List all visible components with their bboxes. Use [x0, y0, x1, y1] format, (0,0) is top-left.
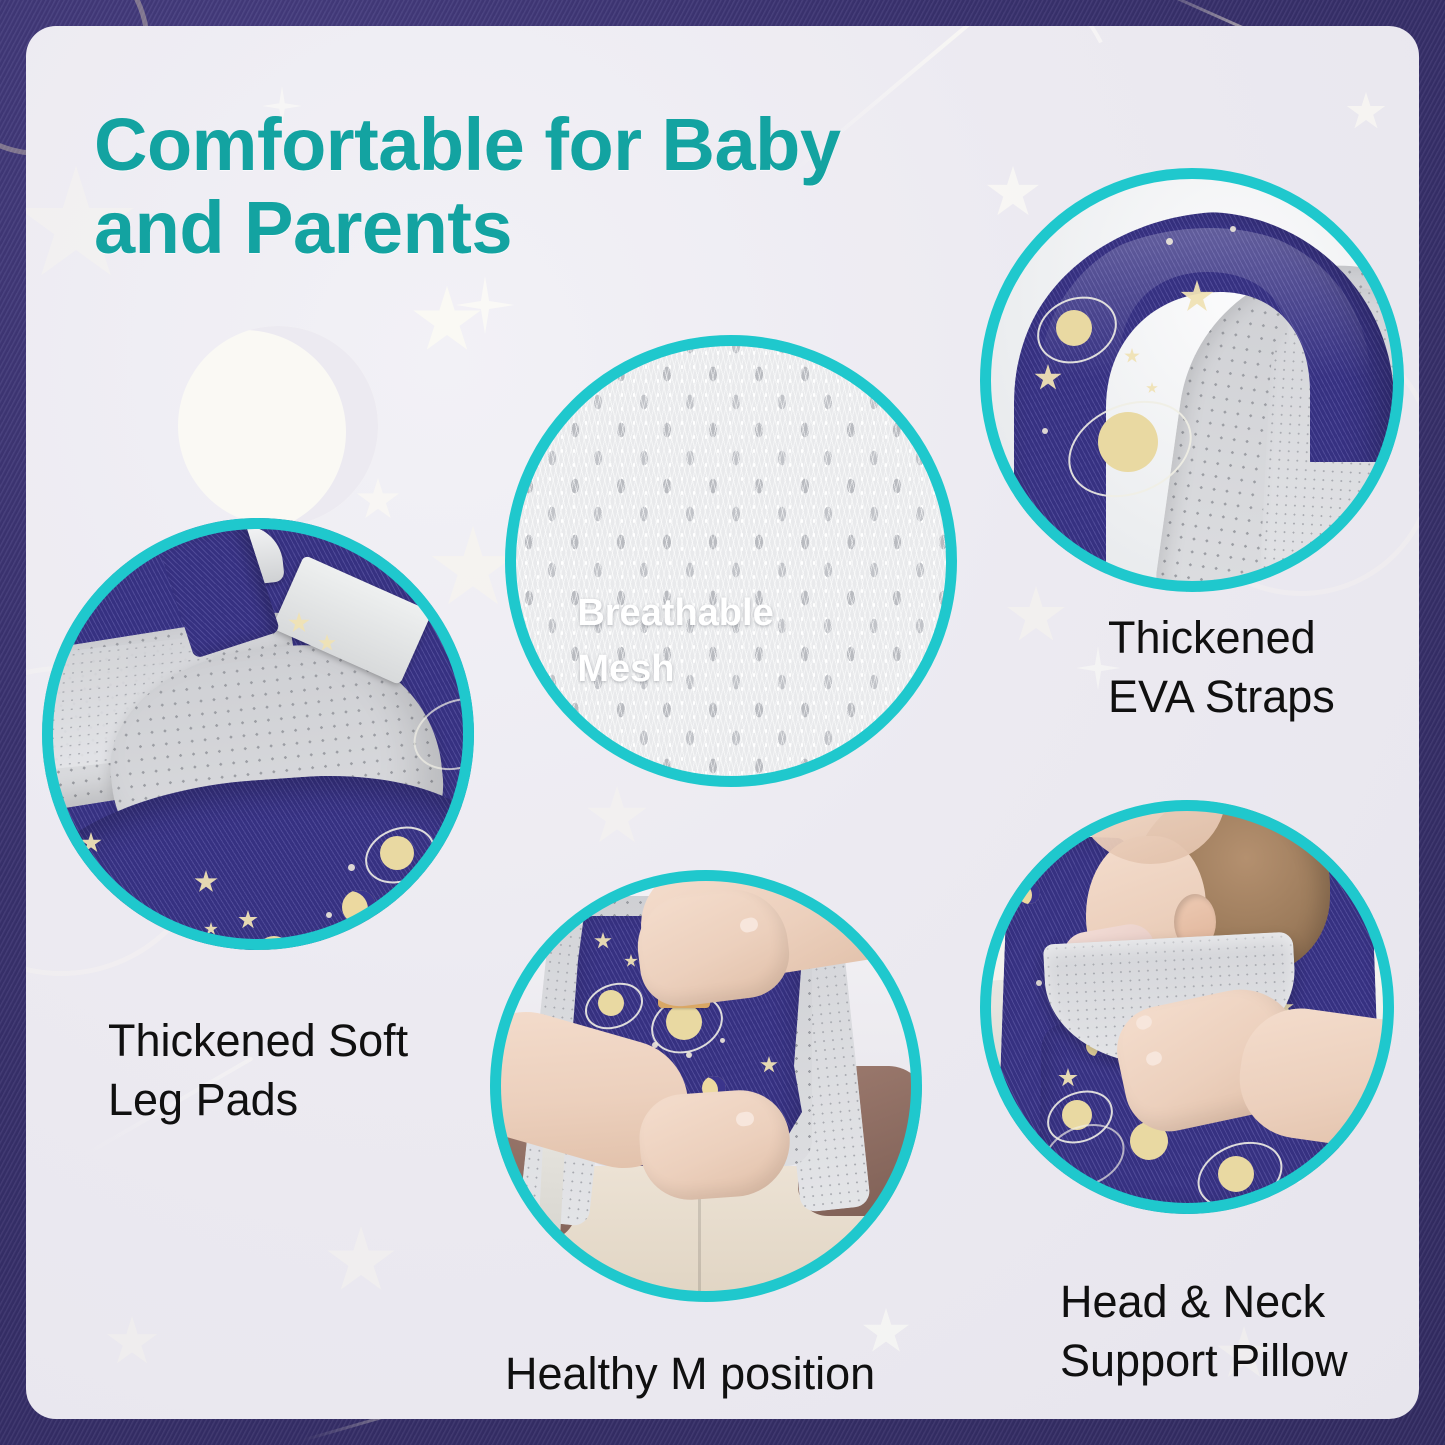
feature-image-healthy-m-position [490, 870, 922, 1302]
carrier-print-moon-icon [1018, 882, 1040, 904]
page-title: Comfortable for Baby and Parents [94, 104, 1094, 270]
background-star-icon [586, 786, 648, 848]
mesh-fabric-texture [505, 335, 957, 787]
carrier-print-dot-icon [720, 1038, 725, 1043]
background-star-icon [356, 478, 400, 522]
feature-image-thickened-eva-straps [980, 168, 1404, 592]
feature-caption-healthy-m-position: Healthy M position [505, 1344, 875, 1403]
feature-image-thickened-soft-leg-pads [42, 518, 474, 950]
feature-image-head-neck-support-pillow [980, 800, 1394, 1214]
leg-pad-print-moon-icon [342, 890, 376, 924]
head-neck-support-photo [980, 800, 1394, 1214]
background-star-icon [412, 286, 482, 356]
frame-star-icon [6, 470, 26, 490]
healthy-m-position-photo [490, 870, 922, 1302]
leg-pad-print-dot-icon [326, 912, 332, 918]
frame-star-icon [742, 4, 762, 24]
product-infographic-poster: Comfortable for Baby and Parents Breatha… [0, 0, 1445, 1445]
strap-print-dot-icon [1230, 226, 1236, 232]
frame-star-icon [1424, 760, 1442, 778]
background-star-icon [1346, 92, 1386, 132]
breathable-mesh-photo [505, 335, 957, 787]
feature-caption-head-neck-support-pillow: Head & Neck Support Pillow [1060, 1272, 1348, 1391]
carrier-print-dot-icon [1036, 980, 1042, 986]
strap-print-dot-icon [1166, 238, 1173, 245]
carrier-print-planet-icon [1218, 1156, 1254, 1192]
background-moon-icon [178, 326, 378, 526]
feature-image-breathable-mesh: Breathable Mesh [505, 335, 957, 787]
leg-pads-photo [42, 518, 474, 950]
feature-caption-thickened-soft-leg-pads: Thickened Soft Leg Pads [108, 1011, 408, 1130]
feature-caption-breathable-mesh: Breathable Mesh [577, 586, 773, 696]
background-star-icon [106, 1316, 158, 1368]
background-sparkle-icon [456, 276, 514, 334]
feature-caption-thickened-eva-straps: Thickened EVA Straps [1108, 608, 1335, 727]
strap-print-dot-icon [1042, 428, 1048, 434]
leg-pad-print-dot-icon [348, 864, 355, 871]
frame-star-icon [920, 1418, 944, 1442]
background-star-icon [1006, 586, 1066, 646]
eva-straps-photo [980, 168, 1404, 592]
frame-star-icon [640, 0, 670, 24]
background-star-icon [326, 1226, 396, 1296]
frame-star-icon [470, 1422, 492, 1444]
poster-content-panel: Comfortable for Baby and Parents Breatha… [26, 26, 1419, 1419]
carrier-print-dot-icon [686, 1052, 692, 1058]
parent-trouser-seam [698, 1186, 701, 1302]
